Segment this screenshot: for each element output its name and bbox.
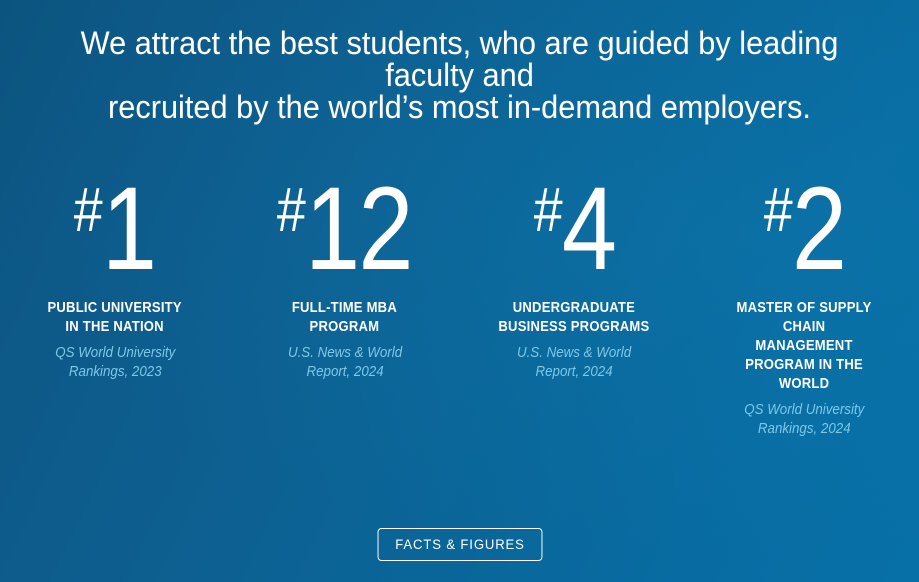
facts-and-figures-button[interactable]: FACTS & FIGURES [377,528,542,561]
stat-label-2: FULL-TIME MBA PROGRAM [292,299,397,337]
stat-value-4: 2 [791,163,844,295]
stat-source-3: U.S. News & World Report, 2024 [517,344,631,382]
stat-value-3: 4 [562,163,615,295]
stat-card-2: #12 FULL-TIME MBA PROGRAM U.S. News & Wo… [230,150,460,382]
stat-number-4: #2 [763,150,845,290]
stats-banner: We attract the best students, who are gu… [0,0,919,582]
stat-card-4: #2 MASTER OF SUPPLY CHAIN MANAGEMENT PRO… [689,150,919,439]
stat-source-1: QS World University Rankings, 2023 [55,344,175,382]
stat-label-3: UNDERGRADUATE BUSINESS PROGRAMS [499,299,650,337]
stat-number-1: #1 [74,150,156,290]
cta-wrapper: FACTS & FIGURES [0,528,919,561]
stats-row: #1 PUBLIC UNIVERSITY IN THE NATION QS Wo… [0,150,919,439]
hash-symbol-3: # [534,176,562,245]
stat-source-2: U.S. News & World Report, 2024 [288,344,402,382]
hash-symbol-1: # [74,176,102,245]
stat-label-1: PUBLIC UNIVERSITY IN THE NATION [48,299,182,337]
banner-headline: We attract the best students, who are gu… [41,27,877,123]
hash-symbol-2: # [277,176,305,245]
stat-value-2: 12 [305,163,412,295]
stat-label-4: MASTER OF SUPPLY CHAIN MANAGEMENT PROGRA… [737,299,872,394]
stat-number-2: #12 [277,150,412,290]
stat-source-4: QS World University Rankings, 2024 [744,401,864,439]
stat-card-3: #4 UNDERGRADUATE BUSINESS PROGRAMS U.S. … [460,150,690,382]
banner-inner: We attract the best students, who are gu… [0,0,919,582]
stat-number-3: #4 [534,150,616,290]
hash-symbol-4: # [763,176,791,245]
stat-card-1: #1 PUBLIC UNIVERSITY IN THE NATION QS Wo… [0,150,230,382]
stat-value-1: 1 [102,163,155,295]
